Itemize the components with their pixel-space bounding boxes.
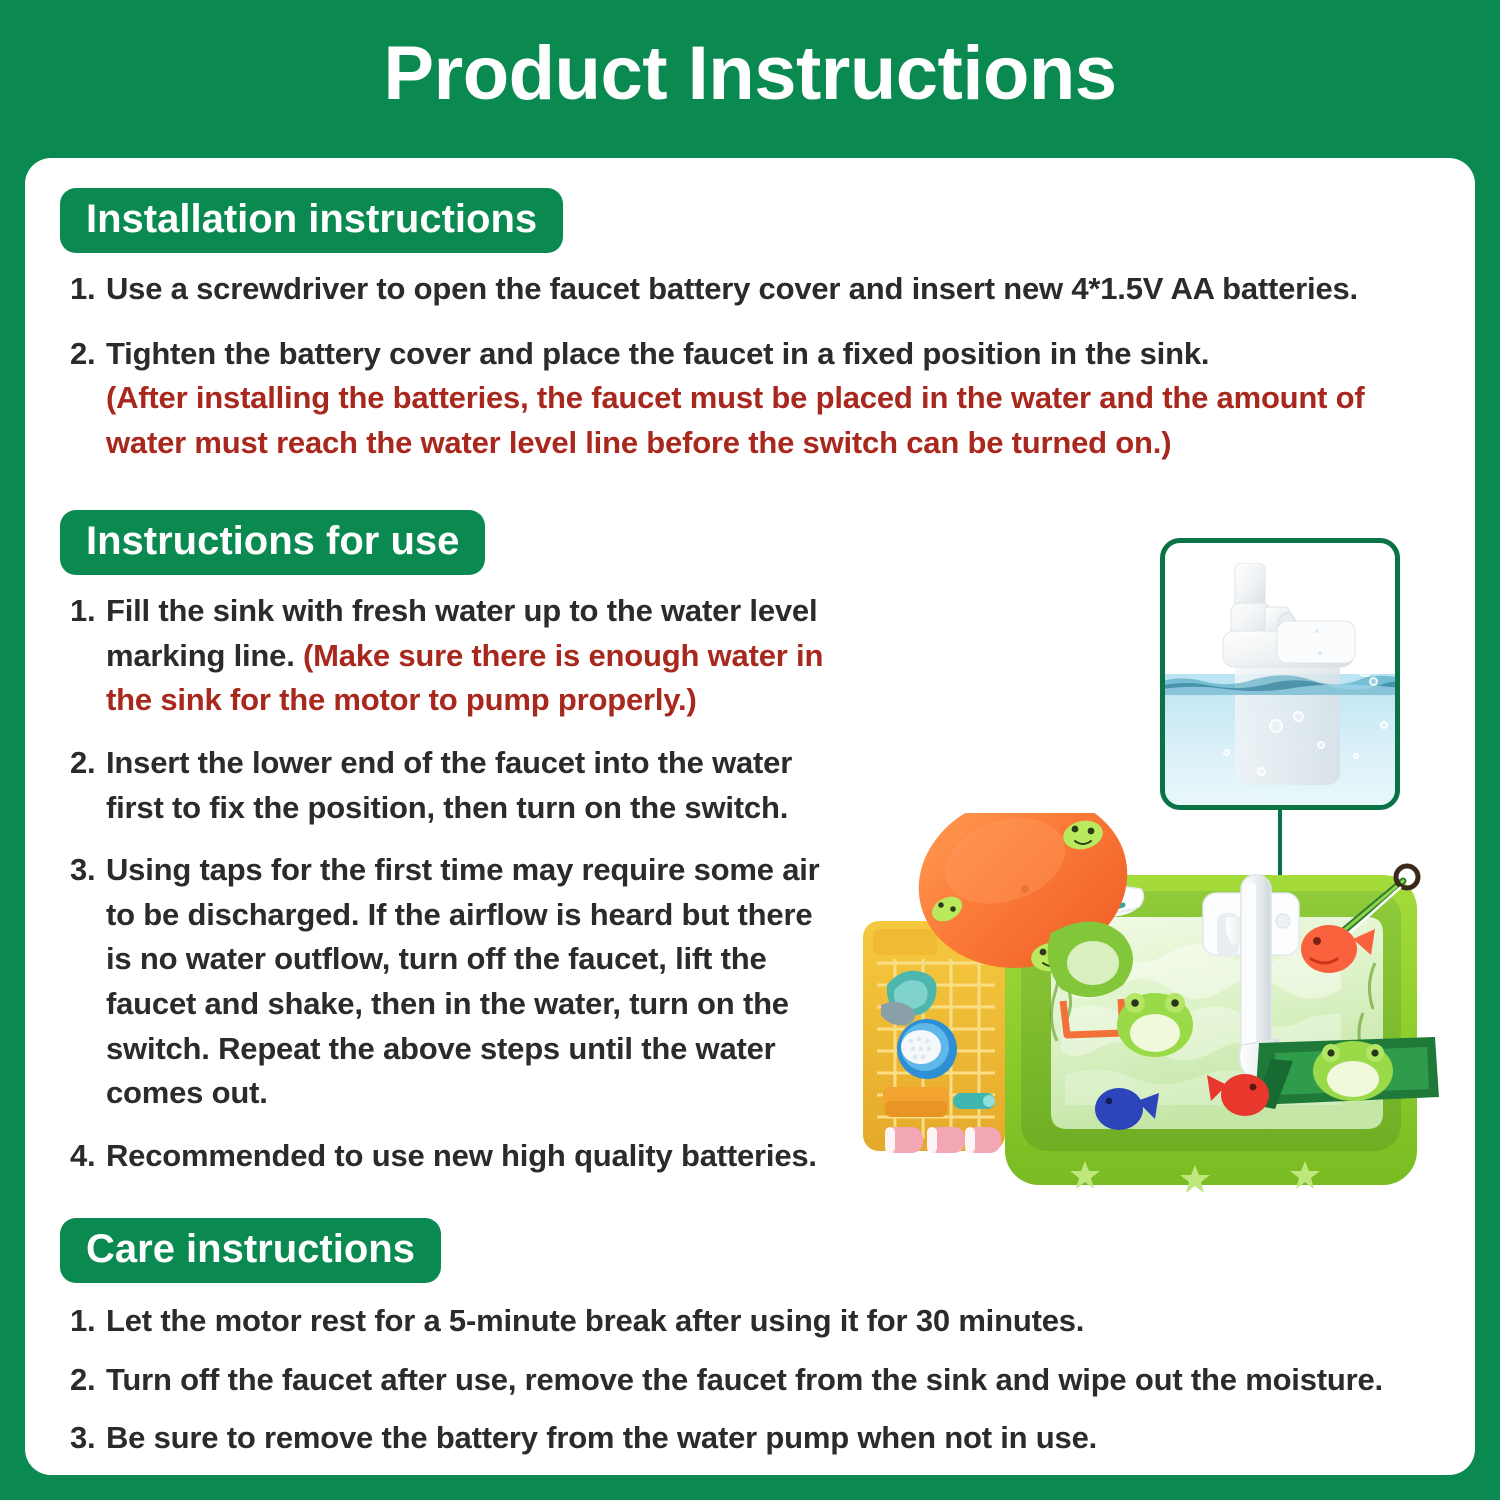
step-number: 2. <box>60 1358 106 1403</box>
step-number: 1. <box>60 589 106 634</box>
step-text: Use a screwdriver to open the faucet bat… <box>106 267 1436 312</box>
step-text: Fill the sink with fresh water up to the… <box>106 589 836 723</box>
step-number: 4. <box>60 1134 106 1179</box>
step-text: Let the motor rest for a 5-minute break … <box>106 1299 1450 1344</box>
list-item: 3. Using taps for the first time may req… <box>60 848 860 1116</box>
list-item: 1. Fill the sink with fresh water up to … <box>60 589 860 723</box>
step-text: Insert the lower end of the faucet into … <box>106 741 836 830</box>
step-number: 1. <box>60 1299 106 1344</box>
pump-in-water-inset-photo <box>1160 538 1400 810</box>
page-title: Product Instructions <box>0 34 1500 114</box>
list-item: 1. Let the motor rest for a 5-minute bre… <box>60 1299 1450 1344</box>
toy-sink-play-set-photo <box>855 813 1470 1213</box>
step-number: 3. <box>60 1416 106 1461</box>
toy-frog-green-basin <box>1117 993 1193 1057</box>
toy-bowl-blue <box>897 1019 957 1079</box>
step-number: 2. <box>60 741 106 786</box>
bubble-icon <box>1223 749 1230 756</box>
list-item: 2. Insert the lower end of the faucet in… <box>60 741 860 830</box>
toy-frog-green-slide <box>1313 1041 1393 1101</box>
list-item: 1. Use a screwdriver to open the faucet … <box>60 267 1450 312</box>
section-heading-installation: Installation instructions <box>60 188 563 253</box>
bubble-icon <box>1380 721 1388 729</box>
step-text: Turn off the faucet after use, remove th… <box>106 1358 1450 1403</box>
use-step-list: 1. Fill the sink with fresh water up to … <box>60 589 860 1179</box>
section-instructions-for-use: Instructions for use 1. Fill the sink wi… <box>60 510 860 1197</box>
bubble-icon <box>1257 767 1266 776</box>
faucet-pump-head-icon <box>1217 563 1367 681</box>
list-item: 2. Tighten the battery cover and place t… <box>60 332 1450 466</box>
content-card: Installation instructions 1. Use a screw… <box>25 158 1475 1475</box>
step-note-red: (After installing the batteries, the fau… <box>106 380 1365 460</box>
step-number: 1. <box>60 267 106 312</box>
step-text: Tighten the battery cover and place the … <box>106 332 1436 466</box>
section-care-instructions: Care instructions 1. Let the motor rest … <box>60 1218 1450 1475</box>
list-item: 4. Recommended to use new high quality b… <box>60 1134 860 1179</box>
step-text: Recommended to use new high quality batt… <box>106 1134 836 1179</box>
bubble-icon <box>1269 719 1283 733</box>
bubble-icon <box>1317 741 1325 749</box>
bubble-icon <box>1375 647 1385 657</box>
section-heading-use: Instructions for use <box>60 510 485 575</box>
installation-step-list: 1. Use a screwdriver to open the faucet … <box>60 267 1450 466</box>
step-number: 2. <box>60 332 106 377</box>
section-heading-care: Care instructions <box>60 1218 441 1283</box>
product-figure <box>855 513 1470 1213</box>
list-item: 3. Be sure to remove the battery from th… <box>60 1416 1450 1461</box>
step-body: Tighten the battery cover and place the … <box>106 336 1209 371</box>
step-text: Using taps for the first time may requir… <box>106 848 836 1116</box>
toy-roller-pink <box>885 1127 1001 1153</box>
section-installation-instructions: Installation instructions 1. Use a screw… <box>60 188 1450 486</box>
bubble-icon <box>1369 677 1378 686</box>
step-text: Be sure to remove the battery from the w… <box>106 1416 1450 1461</box>
bubble-icon <box>1353 753 1359 759</box>
bubble-icon <box>1293 711 1304 722</box>
step-number: 3. <box>60 848 106 893</box>
care-step-list: 1. Let the motor rest for a 5-minute bre… <box>60 1299 1450 1461</box>
bubble-icon <box>1357 661 1373 677</box>
list-item: 2. Turn off the faucet after use, remove… <box>60 1358 1450 1403</box>
